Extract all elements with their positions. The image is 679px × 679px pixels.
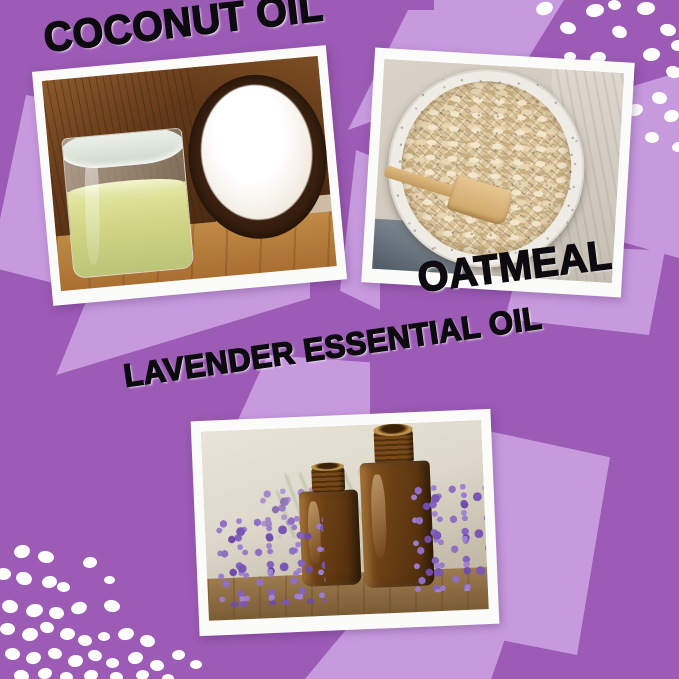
decorative-dot [172,649,186,660]
decorative-dot [57,581,71,592]
decorative-dot [139,634,156,648]
decorative-dot [149,659,164,672]
decorative-dot [59,627,75,641]
decorative-dot [659,22,677,38]
decorative-dot [77,634,92,647]
decorative-dot [60,671,74,679]
decorative-dot [103,599,121,614]
decorative-dot [0,568,11,580]
decorative-dot [67,654,84,668]
decorative-dot [585,3,605,19]
decorative-dot [127,651,144,665]
decorative-dot [190,660,202,669]
glass-jar [61,128,194,280]
photo-image-lavender-essential-oil [201,420,489,621]
decorative-dot [0,623,15,635]
decorative-dot [1,598,19,614]
decorative-dot [25,650,42,665]
bottle-highlight [370,475,387,558]
decorative-dot [13,669,30,679]
decorative-dot [47,647,63,660]
ingredient-collage-poster: COCONUT OIL OATMEAL LAVENDER ESSENTIAL O… [0,0,679,679]
decorative-dot [162,674,174,679]
decorative-dot [41,575,58,589]
decorative-dot [37,667,53,679]
decorative-dot [109,671,123,679]
decorative-dot [104,576,115,584]
decorative-dot [39,620,55,634]
decorative-dot [636,1,655,16]
decorative-dot [117,626,135,641]
decorative-dot [82,556,97,569]
decorative-dot [21,627,39,643]
decorative-dot [83,669,99,679]
photo-image-coconut-oil [42,56,337,291]
lavender-flowers-left [216,512,326,607]
decorative-dot [608,0,622,11]
decorative-dot [136,669,150,679]
decorative-dot [13,543,32,559]
decorative-dot [15,570,34,587]
photo-card-coconut-oil [32,45,347,306]
decorative-dot [610,24,628,40]
decorative-dot [98,632,110,641]
lavender-flowers-right [411,481,488,594]
decorative-dot [87,649,103,663]
decorative-dot [642,47,661,62]
photo-card-lavender-essential-oil [191,409,500,636]
decorative-dot [671,40,679,51]
decorative-dot [4,647,20,661]
decorative-dot [48,606,65,620]
decorative-dot [37,550,55,565]
decorative-dot [106,658,119,668]
decorative-dot [70,600,89,616]
decorative-dot [559,20,577,35]
decorative-dot [25,602,44,618]
